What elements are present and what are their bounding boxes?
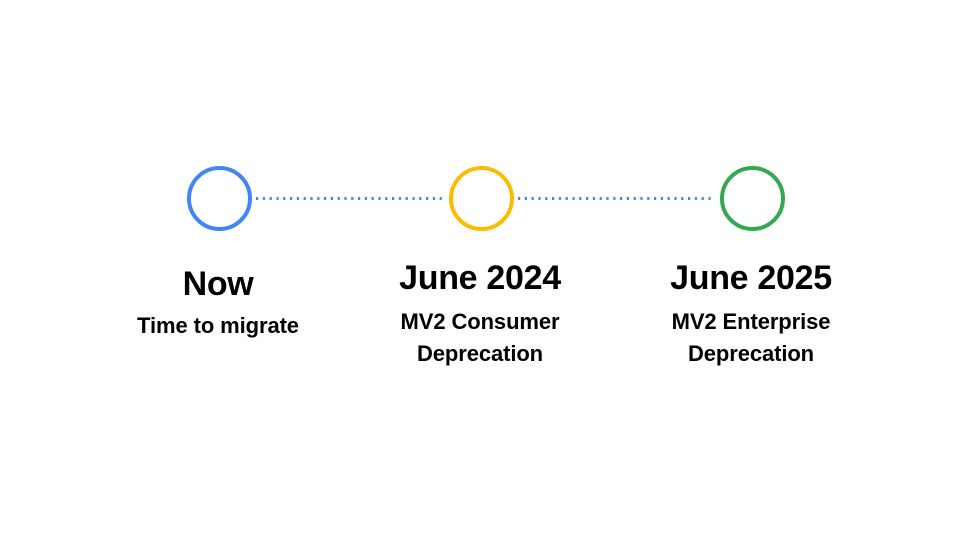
timeline-node-circle-now (187, 166, 252, 231)
milestone-subtitle-june-2024: MV2 Consumer Deprecation (330, 306, 630, 370)
milestone-title-now: Now (68, 264, 368, 304)
timeline-node-circle-june-2024 (449, 166, 514, 231)
milestone-title-june-2024: June 2024 (330, 258, 630, 298)
timeline-connector-june-2024-to-june-2025 (518, 197, 713, 200)
milestone-text-group-june-2025: June 2025 MV2 Enterprise Deprecation (601, 258, 901, 370)
milestone-text-group-now: Now Time to migrate (68, 264, 368, 342)
timeline-node-circle-june-2025 (720, 166, 785, 231)
timeline-connector-now-to-june-2024 (256, 197, 442, 200)
milestone-text-group-june-2024: June 2024 MV2 Consumer Deprecation (330, 258, 630, 370)
timeline-diagram: Now Time to migrate June 2024 MV2 Consum… (0, 0, 960, 540)
milestone-title-june-2025: June 2025 (601, 258, 901, 298)
milestone-subtitle-now: Time to migrate (68, 310, 368, 342)
milestone-subtitle-june-2025: MV2 Enterprise Deprecation (601, 306, 901, 370)
